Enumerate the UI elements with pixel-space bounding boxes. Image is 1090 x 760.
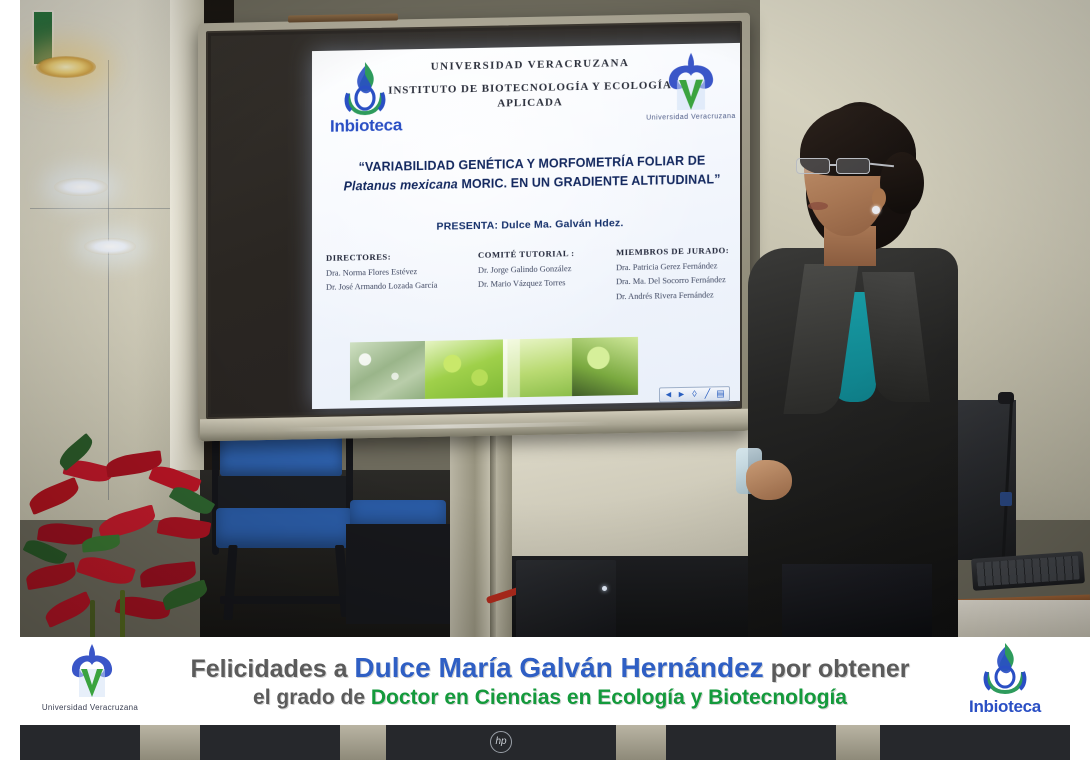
chair-crossbar	[220, 596, 350, 604]
presenter-person	[720, 96, 970, 637]
poinsettia-stem	[120, 590, 125, 637]
ceiling-light-cool-2-icon	[84, 238, 136, 255]
eyeglass-lens-left	[796, 158, 830, 174]
poinsettia-plant	[20, 440, 225, 637]
whiteboard-stand-edge	[490, 430, 496, 637]
slide-title-part1: “VARIABILIDAD GENÉTICA Y MORFOMETRÍA FOL…	[359, 154, 706, 175]
strip-light-panel	[340, 725, 386, 760]
interactive-whiteboard[interactable]: UNIVERSIDAD VERACRUZANA INSTITUTO DE BIO…	[198, 13, 750, 442]
strip-dark-panel	[880, 725, 1070, 760]
arrow-left-icon[interactable]: ◄	[663, 389, 674, 400]
banner-uv-wordmark: Universidad Veracruzana	[20, 703, 160, 712]
slide-presenter-line: PRESENTA: Dulce Ma. Galván Hdez.	[312, 215, 742, 235]
photo-tree-canopy	[350, 341, 425, 400]
eyeglass-bridge	[830, 164, 837, 166]
banner-line1-suffix: por obtener	[764, 655, 910, 683]
banner-line-2: el grado de Doctor en Ciencias en Ecolog…	[166, 685, 934, 710]
banner-line2-prefix: el grado de	[253, 686, 371, 709]
poinsettia-bract	[25, 562, 78, 590]
eyeglass-lens-right	[836, 158, 870, 174]
projected-slide: UNIVERSIDAD VERACRUZANA INSTITUTO DE BIO…	[312, 43, 742, 409]
banner-graduate-name: Dulce María Galván Hernández	[354, 652, 763, 683]
photo-platanus-leaves	[425, 339, 503, 398]
photo-forest-understory	[503, 338, 572, 397]
poinsettia-bract	[157, 514, 212, 543]
presenter-hand	[746, 460, 792, 500]
banner-uv-logo: Universidad Veracruzana	[20, 637, 160, 725]
keyboard-keys	[976, 555, 1079, 586]
whiteboard-top-bracket	[288, 13, 398, 22]
strip-light-panel	[140, 725, 200, 760]
chair-second-shadow	[346, 524, 454, 624]
pc-power-led-icon	[602, 586, 607, 591]
strip-dark-panel	[20, 725, 140, 760]
eyeglass-temple	[870, 163, 894, 167]
column-heading: COMITÉ TUTORIAL :	[478, 247, 624, 260]
presenter-eyeglasses-icon	[796, 158, 892, 174]
whiteboard-stand-column	[450, 430, 512, 637]
slide-title-genus: Platanus	[344, 179, 397, 194]
uv-fleur-de-lis-icon	[64, 643, 120, 701]
column-heading: DIRECTORES:	[326, 250, 466, 263]
strip-light-panel	[616, 725, 666, 760]
committee-name: Dr. Mario Vázquez Torres	[478, 276, 624, 293]
strip-dark-panel	[200, 725, 340, 760]
poinsettia-bract	[26, 477, 82, 515]
ceiling-light-warm-icon	[36, 56, 96, 78]
ceiling-light-cool-1-icon	[54, 178, 108, 196]
uv-fleur-de-lis-icon	[660, 51, 722, 116]
wall-seam-vertical	[108, 60, 109, 500]
banner-message: Felicidades a Dulce María Galván Hernánd…	[160, 652, 940, 711]
presenter-mouth	[808, 202, 828, 210]
cable-clip	[1000, 492, 1012, 506]
photo-sapling	[572, 337, 638, 396]
poinsettia-bract	[42, 591, 94, 628]
slide-column-directores: DIRECTORES: Dra. Norma Flores Estévez Dr…	[326, 250, 466, 296]
slide-header: UNIVERSIDAD VERACRUZANA INSTITUTO DE BIO…	[312, 51, 742, 157]
slide-committee-columns: DIRECTORES: Dra. Norma Flores Estévez Dr…	[326, 245, 742, 339]
banner-inbioteca-logo: Inbioteca	[940, 637, 1070, 725]
chair-gap-shadow	[218, 476, 346, 508]
arrow-right-icon[interactable]: ►	[676, 389, 687, 400]
inbioteca-flame-icon	[342, 60, 388, 119]
committee-name: Dr. José Armando Lozada García	[326, 279, 466, 296]
slide-title-species: mexicana	[400, 178, 458, 193]
slide-title-part2: MORIC. EN UN GRADIENTE ALTITUDINAL”	[458, 173, 721, 192]
whiteboard-bezel: UNIVERSIDAD VERACRUZANA INSTITUTO DE BIO…	[206, 21, 742, 419]
congratulations-banner: Universidad Veracruzana Felicidades a Du…	[20, 637, 1070, 725]
pc-tower	[516, 560, 616, 637]
slide-photo-strip	[350, 337, 638, 401]
inbioteca-flame-icon	[980, 641, 1030, 697]
poinsettia-stem	[90, 600, 95, 637]
banner-degree-name: Doctor en Ciencias en Ecología y Biotecn…	[371, 686, 847, 709]
tray-highlight	[280, 421, 610, 431]
inbioteca-wordmark: Inbioteca	[318, 115, 414, 137]
banner-inbioteca-wordmark: Inbioteca	[940, 697, 1070, 717]
presenter-earring-icon	[872, 206, 880, 214]
banner-line1-prefix: Felicidades a	[190, 655, 354, 683]
keyboard	[971, 551, 1085, 591]
eraser-icon[interactable]: ◊	[689, 389, 700, 400]
banner-line-1: Felicidades a Dulce María Galván Hernánd…	[166, 652, 934, 683]
table-top	[950, 600, 1090, 637]
presenter-slacks	[782, 564, 932, 637]
chair-seat	[216, 508, 352, 548]
poinsettia-bract	[76, 552, 136, 589]
slide-inbioteca-logo: Inbioteca	[318, 59, 414, 149]
strip-dark-panel	[666, 725, 836, 760]
presenter-ear	[872, 188, 886, 208]
hp-logo-icon: hp	[490, 731, 512, 753]
strip-light-panel	[836, 725, 880, 760]
photo-bottom-strip: hp	[20, 725, 1070, 760]
pen-icon[interactable]: ╱	[702, 388, 713, 399]
slide-title: “VARIABILIDAD GENÉTICA Y MORFOMETRÍA FOL…	[332, 151, 732, 197]
screenshot-page: UNIVERSIDAD VERACRUZANA INSTITUTO DE BIO…	[0, 0, 1090, 760]
slide-column-comite-tutorial: COMITÉ TUTORIAL : Dr. Jorge Galindo Gonz…	[478, 247, 624, 293]
event-photograph: UNIVERSIDAD VERACRUZANA INSTITUTO DE BIO…	[20, 0, 1090, 637]
